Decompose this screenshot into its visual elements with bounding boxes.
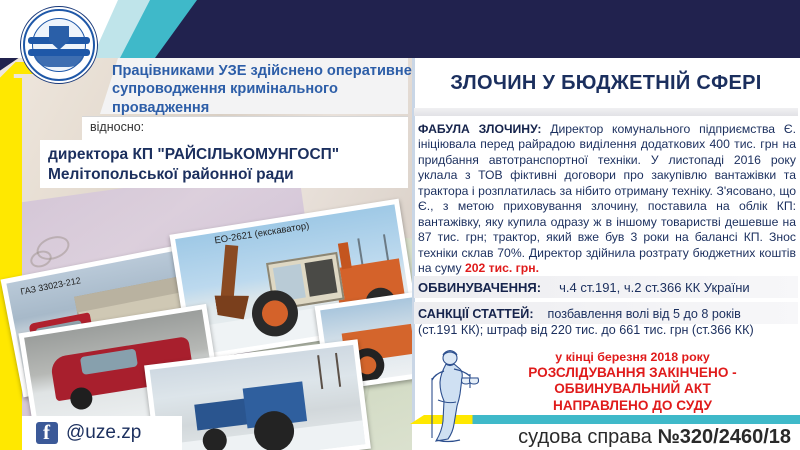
emblem-banner — [28, 49, 90, 56]
national-police-emblem-icon — [20, 6, 98, 84]
accusation-label: ОБВИНУВАЧЕННЯ: — [418, 280, 541, 295]
conclusion-line-4: НАПРАВЛЕНО ДО СУДУ — [470, 398, 795, 414]
case-number-label: судова справа — [518, 426, 657, 448]
fabula-text: Директор комунального підприємства Є. ін… — [418, 122, 796, 275]
sanctions-label: САНКЦІЇ СТАТТЕЙ: — [418, 307, 534, 321]
title-divider — [414, 108, 798, 116]
accusation-block: ОБВИНУВАЧЕННЯ: ч.4 ст.191, ч.2 ст.366 КК… — [418, 280, 796, 295]
infographic-root: ГАЗ 33023-212 ЕО-2621 (екскаватор) — [0, 0, 800, 450]
conclusion-line-3: ОБВИНУВАЛЬНИЙ АКТ — [470, 381, 795, 397]
exhaust-stack — [338, 242, 352, 269]
tree — [317, 355, 323, 389]
facebook-handle[interactable]: @uze.zp — [66, 422, 141, 444]
sanctions-text-2: (ст.191 КК); штраф від 220 тис. до 661 т… — [418, 323, 754, 337]
facebook-icon[interactable] — [36, 422, 58, 444]
conclusion-line-2: РОЗСЛІДУВАННЯ ЗАКІНЧЕНО - — [470, 365, 795, 381]
intro-text: Працівниками УЗЕ здійснено оперативне су… — [112, 62, 412, 117]
header-navy-band — [155, 0, 800, 58]
tree — [335, 353, 341, 387]
yellow-accent-stripe — [0, 78, 22, 450]
case-number: судова справа №320/2460/18 — [470, 426, 795, 449]
fabula-amount: 202 тис. грн. — [465, 261, 539, 275]
sanctions-block: САНКЦІЇ СТАТТЕЙ: позбавлення волі від 5 … — [418, 306, 796, 339]
fabula-label: ФАБУЛА ЗЛОЧИНУ: — [418, 122, 541, 136]
page-header — [0, 0, 800, 58]
fabula-block: ФАБУЛА ЗЛОЧИНУ: Директор комунального пі… — [418, 122, 796, 277]
excavator-window — [304, 259, 337, 297]
conclusion-block: у кінці березня 2018 року РОЗСЛІДУВАННЯ … — [470, 350, 795, 414]
accusation-text: ч.4 ст.191, ч.2 ст.366 КК України — [559, 280, 750, 295]
conclusion-line-1: у кінці березня 2018 року — [470, 350, 795, 365]
tractor-wheel — [201, 427, 228, 450]
regarding-label: відносно: — [90, 120, 144, 134]
case-title: ЗЛОЧИН У БЮДЖЕТНІЙ СФЕРІ — [418, 72, 794, 95]
facebook-badge[interactable]: @uze.zp — [22, 416, 182, 450]
case-number-value: №320/2460/18 — [657, 426, 791, 448]
accused-text: директора КП "РАЙСІЛЬКОМУНГОСП" Мелітопо… — [48, 145, 400, 185]
sanctions-text-1: позбавлення волі від 5 до 8 років — [548, 307, 741, 321]
